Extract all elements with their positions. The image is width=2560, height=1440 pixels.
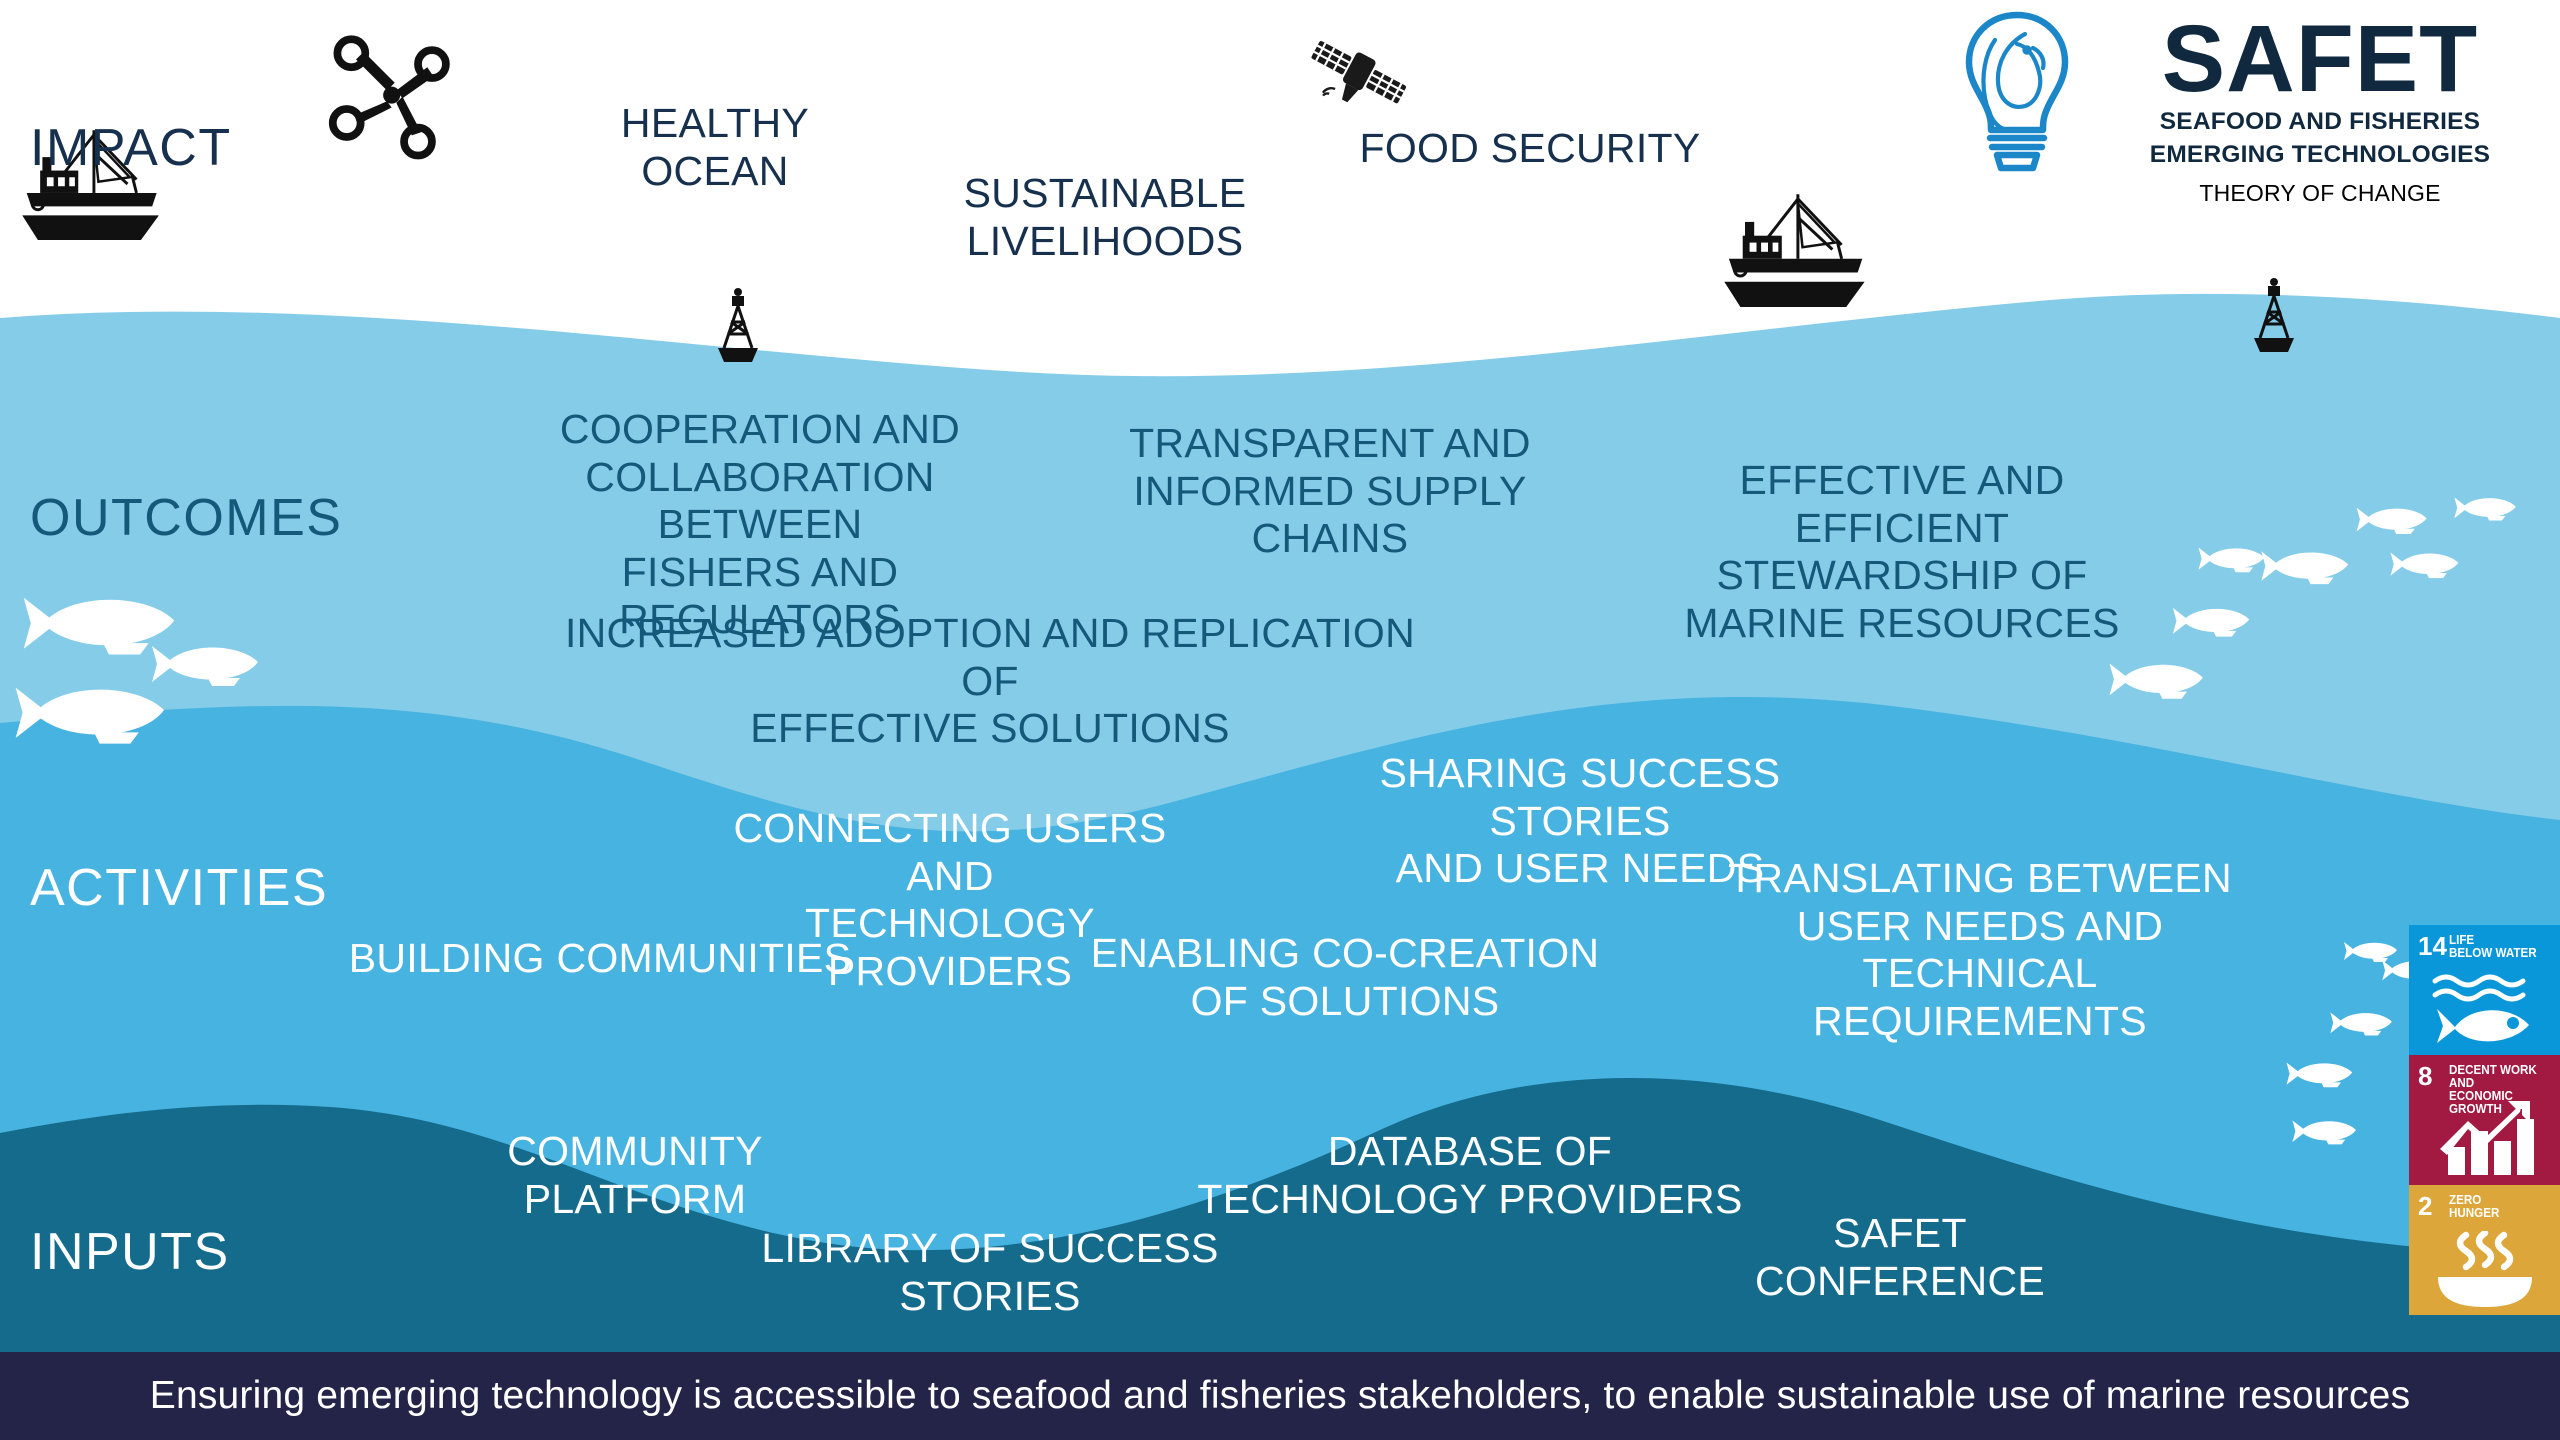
impact-node-food-security: FOOD SECURITY xyxy=(1305,125,1755,173)
outcomes-node-transparent-supply-chains: TRANSPARENT AND INFORMED SUPPLY CHAINS xyxy=(1070,420,1590,563)
logo-subtitle-line1: SEAFOOD AND FISHERIES xyxy=(2095,108,2545,137)
footer-tagline-text: Ensuring emerging technology is accessib… xyxy=(150,1374,2411,1418)
band-label-impact: IMPACT xyxy=(30,118,232,178)
inputs-node-safet-conference: SAFET CONFERENCE xyxy=(1730,1210,2070,1305)
band-label-activities: ACTIVITIES xyxy=(30,858,328,918)
activities-node-enabling-co-creation: ENABLING CO-CREATION OF SOLUTIONS xyxy=(1090,930,1600,1025)
sdg-badge-2: 2 ZERO HUNGER xyxy=(2409,1185,2560,1315)
lightbulb-with-fish-icon xyxy=(1955,10,2080,175)
safet-logo: SAFET SEAFOOD AND FISHERIES EMERGING TEC… xyxy=(1955,8,2545,198)
fish-and-waves-icon xyxy=(2425,971,2545,1049)
sdg-badge-14: 14 LIFE BELOW WATER xyxy=(2409,925,2560,1055)
activities-node-translating-between: TRANSLATING BETWEEN USER NEEDS AND TECHN… xyxy=(1700,855,2260,1045)
logo-subtitle-line2: EMERGING TECHNOLOGIES xyxy=(2095,141,2545,170)
inputs-node-library-of-success-stories: LIBRARY OF SUCCESS STORIES xyxy=(760,1225,1220,1320)
outcomes-node-effective-stewardship: EFFECTIVE AND EFFICIENT STEWARDSHIP OF M… xyxy=(1632,457,2172,647)
impact-node-sustainable-livelihoods: SUSTAINABLE LIVELIHOODS xyxy=(940,170,1270,265)
inputs-node-database-of-technology-providers: DATABASE OF TECHNOLOGY PROVIDERS xyxy=(1190,1128,1750,1223)
logo-theory-of-change-tagline: THEORY OF CHANGE xyxy=(2095,180,2545,207)
band-label-inputs: INPUTS xyxy=(30,1222,230,1282)
theory-of-change-infographic: SAFET SEAFOOD AND FISHERIES EMERGING TEC… xyxy=(0,0,2560,1440)
outcomes-node-increased-adoption: INCREASED ADOPTION AND REPLICATION OF EF… xyxy=(560,610,1420,753)
sdg-badge-8: 8 DECENT WORK AND ECONOMIC GROWTH xyxy=(2409,1055,2560,1185)
sdg-title: ZERO HUNGER xyxy=(2449,1194,2499,1220)
sdg-number: 2 xyxy=(2418,1193,2432,1219)
logo-wordmark: SAFET xyxy=(2095,14,2545,104)
outcomes-node-cooperation-collaboration: COOPERATION AND COLLABORATION BETWEEN FI… xyxy=(480,406,1040,644)
band-label-outcomes: OUTCOMES xyxy=(30,488,342,548)
steaming-bowl-icon xyxy=(2430,1231,2540,1307)
sdg-number: 14 xyxy=(2418,933,2447,959)
sdg-title: LIFE BELOW WATER xyxy=(2449,934,2537,960)
footer-tagline: Ensuring emerging technology is accessib… xyxy=(0,1352,2560,1440)
sdg-goal-badges: 14 LIFE BELOW WATER 8 DECENT WORK AND EC… xyxy=(2409,925,2560,1315)
growth-chart-arrow-icon xyxy=(2430,1101,2540,1177)
activities-node-building-communities: BUILDING COMMUNITIES xyxy=(340,935,860,983)
inputs-node-community-platform: COMMUNITY PLATFORM xyxy=(440,1128,830,1223)
impact-node-healthy-ocean: HEALTHY OCEAN xyxy=(545,100,885,195)
sdg-number: 8 xyxy=(2418,1063,2432,1089)
